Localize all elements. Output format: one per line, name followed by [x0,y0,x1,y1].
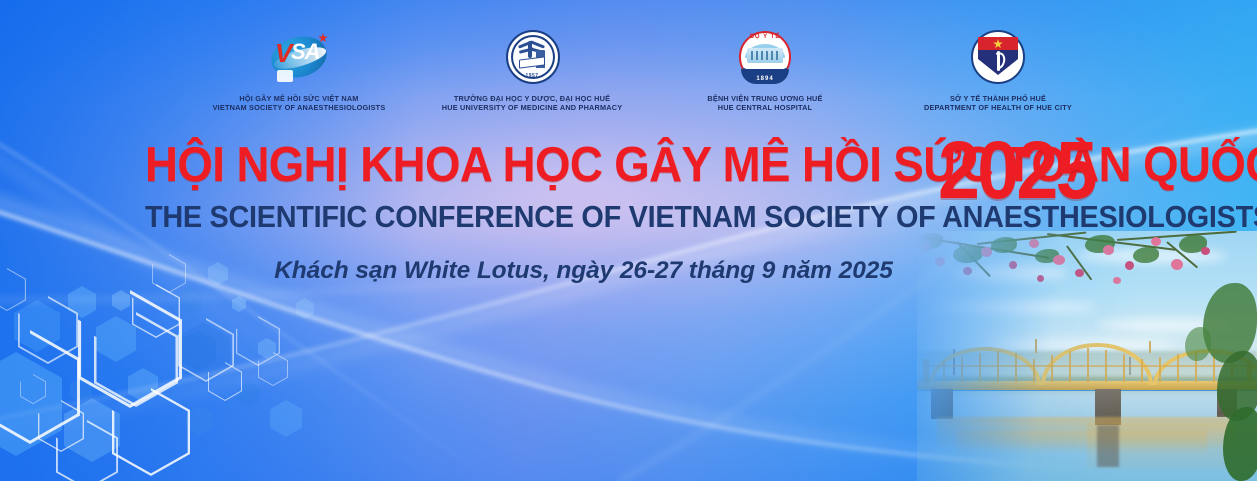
logo-vsa-name-vi: HỘI GÂY MÊ HỒI SỨC VIỆT NAM [213,94,386,103]
logo-hue-university-name-en: HUE UNIVERSITY OF MEDICINE AND PHARMACY [442,103,623,112]
logo-vsa: V SA HỘI GÂY MÊ HỒI SỨC VIỆT NAM VIETNAM… [212,28,387,112]
hue-university-medicine-pharmacy-seal-icon: 1957 [502,28,562,88]
logo-hospital-name-en: HUE CENTRAL HOSPITAL [707,103,822,112]
seal-year: 1894 [741,76,789,82]
logo-hospital-name-vi: BỆNH VIỆN TRUNG ƯƠNG HUẾ [707,94,822,103]
venue-date-text: Khách sạn White Lotus, ngày 26-27 tháng … [274,257,893,285]
hue-central-hospital-seal-icon: BỘ Y TẾ 1894 [735,28,795,88]
logo-department-of-health: SỞ Y TẾ THÀNH PHỐ HUẾ DEPARTMENT OF HEAL… [911,28,1086,112]
venue-and-date: Khách sạn White Lotus, ngày 26-27 tháng … [0,257,1257,285]
conference-banner: V SA HỘI GÂY MÊ HỒI SỨC VIỆT NAM VIETNAM… [0,0,1257,481]
logo-hue-university-name-vi: TRƯỜNG ĐẠI HỌC Y DƯỢC, ĐẠI HỌC HUẾ [442,94,623,103]
banner-content: V SA HỘI GÂY MÊ HỒI SỨC VIỆT NAM VIETNAM… [0,0,1257,481]
logo-hue-central-hospital: BỘ Y TẾ 1894 BỆNH VIỆN TRUNG ƯƠNG HUẾ HU… [678,28,853,112]
headline-block: HỘI NGHỊ KHOA HỌC GÂY MÊ HỒI SỨC TOÀN QU… [0,143,1257,205]
logo-hue-university: 1957 TRƯỜNG ĐẠI HỌC Y DƯỢC, ĐẠI HỌC HUẾ … [445,28,620,112]
vsa-letters-sa: SA [291,41,320,63]
vsa-letter-v: V [275,40,292,66]
seal-year: 1957 [502,73,562,79]
organizer-logos-row: V SA HỘI GÂY MÊ HỒI SỨC VIỆT NAM VIETNAM… [0,28,1257,112]
seal-top-text: BỘ Y TẾ [735,34,795,40]
department-of-health-hue-seal-icon [968,28,1028,88]
logo-doh-name-vi: SỞ Y TẾ THÀNH PHỐ HUẾ [924,94,1072,103]
vsa-emblem-icon: V SA [269,28,329,88]
logo-doh-name-en: DEPARTMENT OF HEALTH OF HUE CITY [924,103,1072,112]
logo-vsa-name-en: VIETNAM SOCIETY OF ANAESTHESIOLOGISTS [213,103,386,112]
conference-title-english: THE SCIENTIFIC CONFERENCE OF VIETNAM SOC… [145,201,1257,232]
